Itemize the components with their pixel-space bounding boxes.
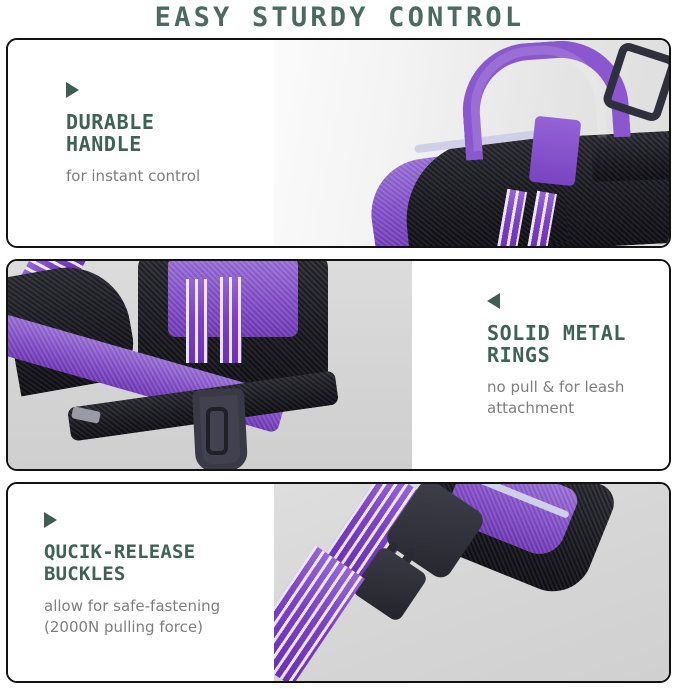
feature-text-block: QUCIK-RELEASE BUCKLES allow for safe-fas… [8,484,274,681]
feature-subtext: no pull & for leash attachment [487,377,669,419]
feature-panel-solid-metal-rings: SOLID METAL RINGS no pull & for leash at… [6,259,671,471]
reflective-webbing-strap [220,277,242,363]
velcro-patch [591,134,669,182]
product-photo-metal-ring [8,261,412,469]
metal-ring-aperture [206,407,228,455]
triangle-right-icon [44,512,57,528]
triangle-right-icon [66,82,79,98]
feature-text-block: DURABLE HANDLE for instant control [8,40,274,246]
feature-subtext: for instant control [66,166,274,187]
reflective-webbing-strap [186,279,208,363]
feature-panel-quick-release-buckles: QUCIK-RELEASE BUCKLES allow for safe-fas… [6,482,671,683]
feature-panel-durable-handle: DURABLE HANDLE for instant control [6,38,671,248]
product-photo-durable-handle [274,40,669,246]
page-title: EASY STURDY CONTROL [0,0,679,36]
feature-heading: QUCIK-RELEASE BUCKLES [44,541,274,585]
feature-subtext: allow for safe-fastening (2000N pulling … [44,596,274,638]
feature-text-block: SOLID METAL RINGS no pull & for leash at… [412,261,669,469]
feature-heading: DURABLE HANDLE [66,111,274,155]
triangle-left-icon [487,293,500,309]
product-photo-quick-release-buckle [274,484,669,681]
feature-heading: SOLID METAL RINGS [487,322,669,366]
